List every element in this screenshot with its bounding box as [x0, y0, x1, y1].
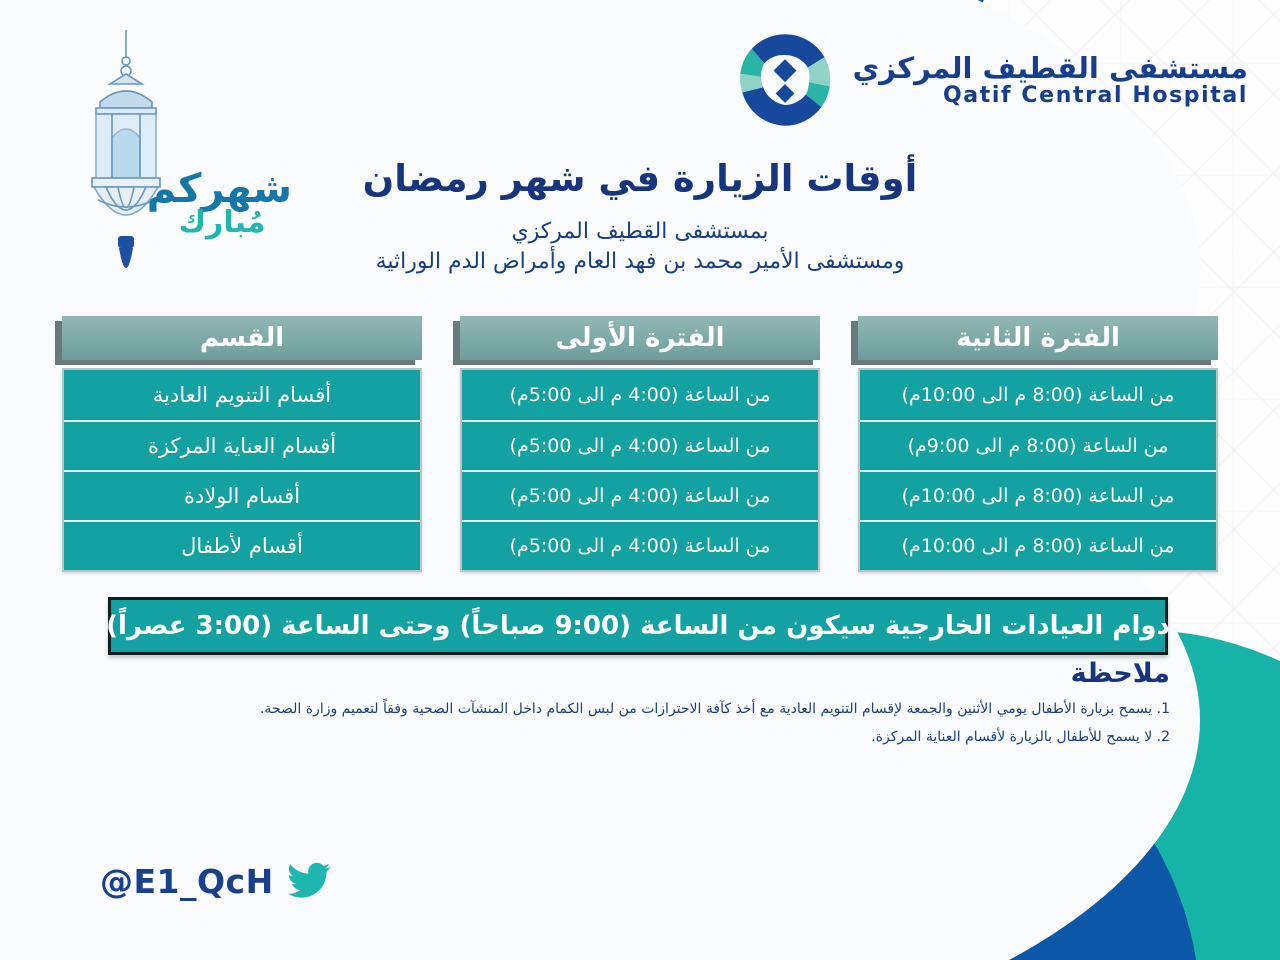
page-title: أوقات الزيارة في شهر رمضان [0, 156, 1280, 202]
table-cell: من الساعة (4:00 م الى 5:00م) [462, 370, 818, 420]
table-cell: من الساعة (8:00 م الى 10:00م) [860, 370, 1216, 420]
table-cell: من الساعة (4:00 م الى 5:00م) [462, 470, 818, 520]
twitter-bird-icon [286, 858, 332, 904]
table-cell: من الساعة (8:00 م الى 10:00م) [860, 470, 1216, 520]
hospital-logo: مستشفى القطيف المركزي Qatif Central Hosp… [733, 28, 1248, 132]
column-header-first-period: الفترة الأولى [460, 316, 820, 360]
table-cell: من الساعة (8:00 م الى 10:00م) [860, 520, 1216, 570]
heading-subtitle-2: ومستشفى الأمير محمد بن فهد العام وأمراض … [0, 247, 1280, 277]
note-item: 1. يسمح بزيارة الأطفال يومي الأثنين والج… [110, 695, 1170, 723]
column-body-first-period: من الساعة (4:00 م الى 5:00م) من الساعة (… [460, 368, 820, 572]
visiting-hours-table: الفترة الثانية من الساعة (8:00 م الى 10:… [0, 316, 1280, 572]
note-item: 2. لا يسمح للأطفال بالزيارة لأقسام العنا… [110, 723, 1170, 751]
column-header-second-period: الفترة الثانية [858, 316, 1218, 360]
table-cell: أقسام التنويم العادية [64, 370, 420, 420]
poster-canvas: شهركم مُبارك مستشفى القطيف المركزي Qatif… [0, 0, 1280, 960]
table-cell: من الساعة (4:00 م الى 5:00م) [462, 420, 818, 470]
hospital-logo-text: مستشفى القطيف المركزي Qatif Central Hosp… [853, 53, 1248, 107]
outpatient-clinics-banner: دوام العيادات الخارجية سيكون من الساعة (… [108, 597, 1168, 655]
hospital-ring-logo-icon [733, 28, 837, 132]
poster-heading: أوقات الزيارة في شهر رمضان بمستشفى القطي… [0, 156, 1280, 277]
notes-title: ملاحظة [110, 658, 1170, 689]
table-column-first-period: الفترة الأولى من الساعة (4:00 م الى 5:00… [460, 316, 820, 572]
column-header-department: القسم [62, 316, 422, 360]
hospital-name-arabic: مستشفى القطيف المركزي [853, 53, 1248, 83]
column-body-department: أقسام التنويم العادية أقسام العناية المر… [62, 368, 422, 572]
hospital-name-english: Qatif Central Hospital [853, 84, 1248, 107]
table-cell: أقسام العناية المركزة [64, 420, 420, 470]
heading-subtitle-1: بمستشفى القطيف المركزي [0, 218, 1280, 247]
table-cell: أقسام الولادة [64, 470, 420, 520]
table-cell: أقسام لأطفال [64, 520, 420, 570]
column-body-second-period: من الساعة (8:00 م الى 10:00م) من الساعة … [858, 368, 1218, 572]
table-cell: من الساعة (4:00 م الى 5:00م) [462, 520, 818, 570]
notes-section: ملاحظة 1. يسمح بزيارة الأطفال يومي الأثن… [110, 658, 1170, 751]
social-handle-text: @E1_QcH [100, 862, 274, 901]
social-handle[interactable]: @E1_QcH [100, 858, 332, 904]
table-cell: من الساعة (8:00 م الى 9:00م) [860, 420, 1216, 470]
table-column-second-period: الفترة الثانية من الساعة (8:00 م الى 10:… [858, 316, 1218, 572]
table-column-department: القسم أقسام التنويم العادية أقسام العناي… [62, 316, 422, 572]
